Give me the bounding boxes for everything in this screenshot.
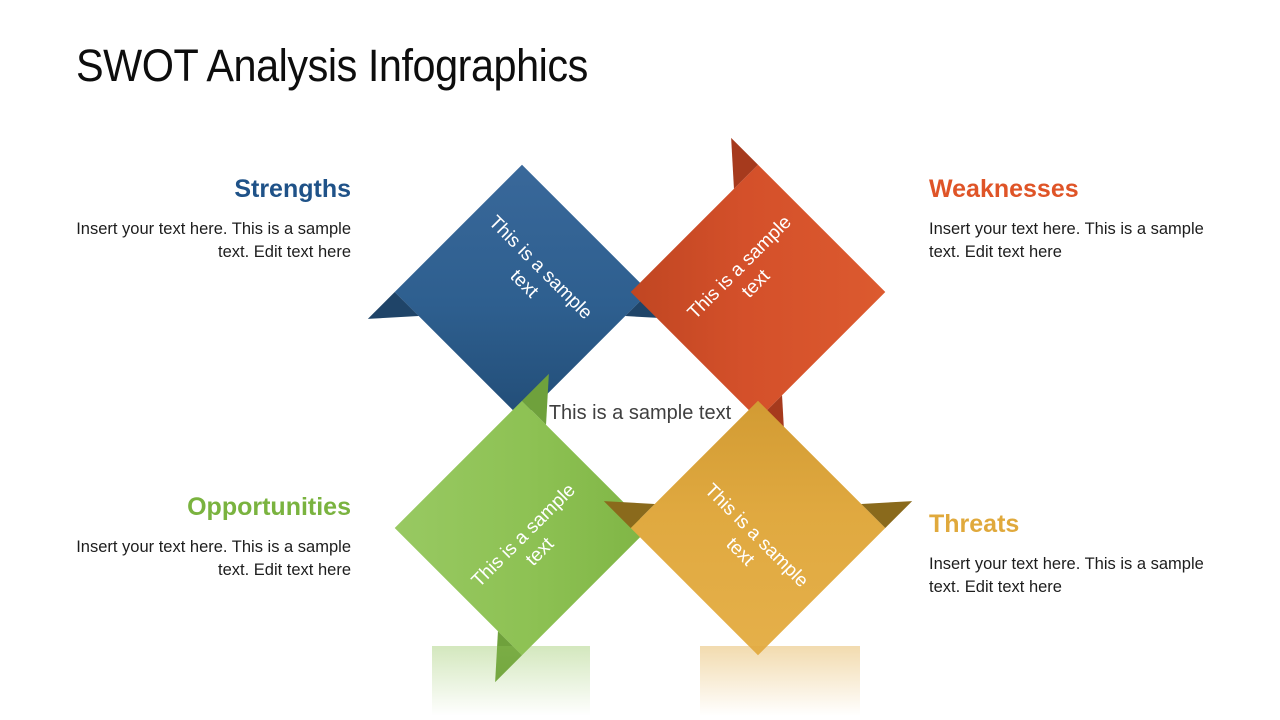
swot-shape-threats[interactable]: 4 This is a sample text <box>634 404 882 652</box>
text-block-threats: Threats Insert your text here. This is a… <box>929 511 1229 600</box>
text-block-strengths: Strengths Insert your text here. This is… <box>51 176 351 265</box>
heading-weaknesses: Weaknesses <box>929 176 1229 204</box>
swot-shape-strengths[interactable]: 1 This is a sample text <box>398 168 646 416</box>
text-block-weaknesses: Weaknesses Insert your text here. This i… <box>929 176 1229 265</box>
body-weaknesses: Insert your text here. This is a sample … <box>929 218 1229 266</box>
body-opportunities: Insert your text here. This is a sample … <box>51 536 351 584</box>
swot-shape-weaknesses[interactable]: 2 This is a sample text <box>634 168 882 416</box>
quad-number-2: 2 <box>828 210 844 238</box>
quad-number-4: 4 <box>828 582 844 610</box>
heading-opportunities: Opportunities <box>51 494 351 522</box>
quad-number-3: 3 <box>436 582 452 610</box>
center-label: This is a sample text <box>530 400 750 427</box>
swot-diagram: 1 This is a sample text 2 This is a samp… <box>390 160 890 705</box>
reflection-threats <box>700 646 860 716</box>
reflection-opportunities <box>432 646 590 716</box>
text-block-opportunities: Opportunities Insert your text here. Thi… <box>51 494 351 583</box>
heading-threats: Threats <box>929 511 1229 539</box>
body-strengths: Insert your text here. This is a sample … <box>51 218 351 266</box>
quad-number-1: 1 <box>436 210 452 238</box>
page-title: SWOT Analysis Infographics <box>76 40 588 92</box>
heading-strengths: Strengths <box>51 176 351 204</box>
body-threats: Insert your text here. This is a sample … <box>929 553 1229 601</box>
swot-shape-opportunities[interactable]: 3 This is a sample text <box>398 404 646 652</box>
